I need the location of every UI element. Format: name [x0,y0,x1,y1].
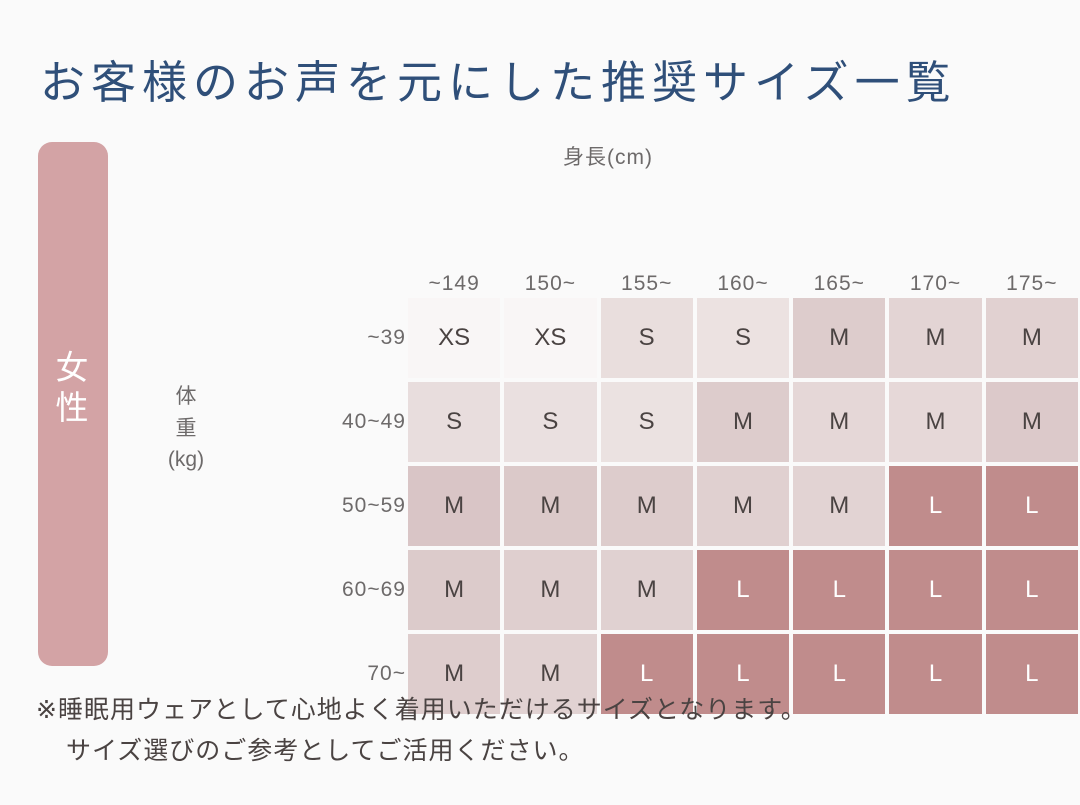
table-row: 60~69MMMLLLL [342,548,1080,632]
size-cell-2-2: M [599,464,695,548]
row-header-0: ~39 [342,296,406,380]
size-cell-1-2: S [599,380,695,464]
row-header-1: 40~49 [342,380,406,464]
size-cell-0-4: M [791,296,887,380]
size-cell-0-2: S [599,296,695,380]
size-cell-3-2: M [599,548,695,632]
column-header-4: 165~ [791,248,887,296]
size-cell-1-6: M [984,380,1080,464]
size-cell-0-0: XS [406,296,502,380]
size-cell-3-6: L [984,548,1080,632]
table-row: 40~49SSSMMMM [342,380,1080,464]
corner-spacer [342,248,406,296]
weight-axis-title-line-3: (kg) [160,444,212,476]
gender-category-label: 女性 [53,348,93,429]
gender-category-bar: 女性 [38,142,108,666]
column-header-5: 170~ [887,248,983,296]
weight-axis-title-line-1: 体 [160,381,212,413]
size-cell-1-1: S [502,380,598,464]
size-cell-1-3: M [695,380,791,464]
size-cell-0-1: XS [502,296,598,380]
footnote-line-2: サイズ選びのご参考としてご活用ください。 [36,731,807,772]
size-cell-2-4: M [791,464,887,548]
column-header-1: 150~ [502,248,598,296]
size-cell-1-4: M [791,380,887,464]
recommended-size-table: ~149150~155~160~165~170~175~ ~39XSXSSSMM… [342,248,1080,716]
size-cell-3-1: M [502,548,598,632]
size-cell-2-1: M [502,464,598,548]
table-body: ~39XSXSSSMMM40~49SSSMMMM50~59MMMMMLL60~6… [342,296,1080,716]
size-cell-3-4: L [791,548,887,632]
size-cell-0-5: M [887,296,983,380]
size-cell-0-6: M [984,296,1080,380]
column-header-2: 155~ [599,248,695,296]
size-cell-3-5: L [887,548,983,632]
row-header-2: 50~59 [342,464,406,548]
size-cell-3-0: M [406,548,502,632]
size-cell-0-3: S [695,296,791,380]
footnotes: ※睡眠用ウェアとして心地よく着用いただけるサイズとなります。 サイズ選びのご参考… [36,690,807,773]
column-header-0: ~149 [406,248,502,296]
row-header-3: 60~69 [342,548,406,632]
column-header-row: ~149150~155~160~165~170~175~ [342,248,1080,296]
size-cell-4-6: L [984,632,1080,716]
table-header: ~149150~155~160~165~170~175~ [342,248,1080,296]
size-cell-2-3: M [695,464,791,548]
column-header-6: 175~ [984,248,1080,296]
size-cell-2-5: L [887,464,983,548]
weight-axis-title: 体 重 (kg) [160,381,212,476]
table-row: 50~59MMMMMLL [342,464,1080,548]
size-cell-1-0: S [406,380,502,464]
column-header-3: 160~ [695,248,791,296]
size-cell-2-6: L [984,464,1080,548]
table-row: ~39XSXSSSMMM [342,296,1080,380]
page-title: お客様のお声を元にした推奨サイズ一覧 [40,46,957,111]
size-cell-4-5: L [887,632,983,716]
size-cell-3-3: L [695,548,791,632]
footnote-line-1: ※睡眠用ウェアとして心地よく着用いただけるサイズとなります。 [36,690,807,731]
size-cell-1-5: M [887,380,983,464]
weight-axis-title-line-2: 重 [160,413,212,445]
size-cell-2-0: M [406,464,502,548]
height-axis-title: 身長(cm) [563,141,653,171]
